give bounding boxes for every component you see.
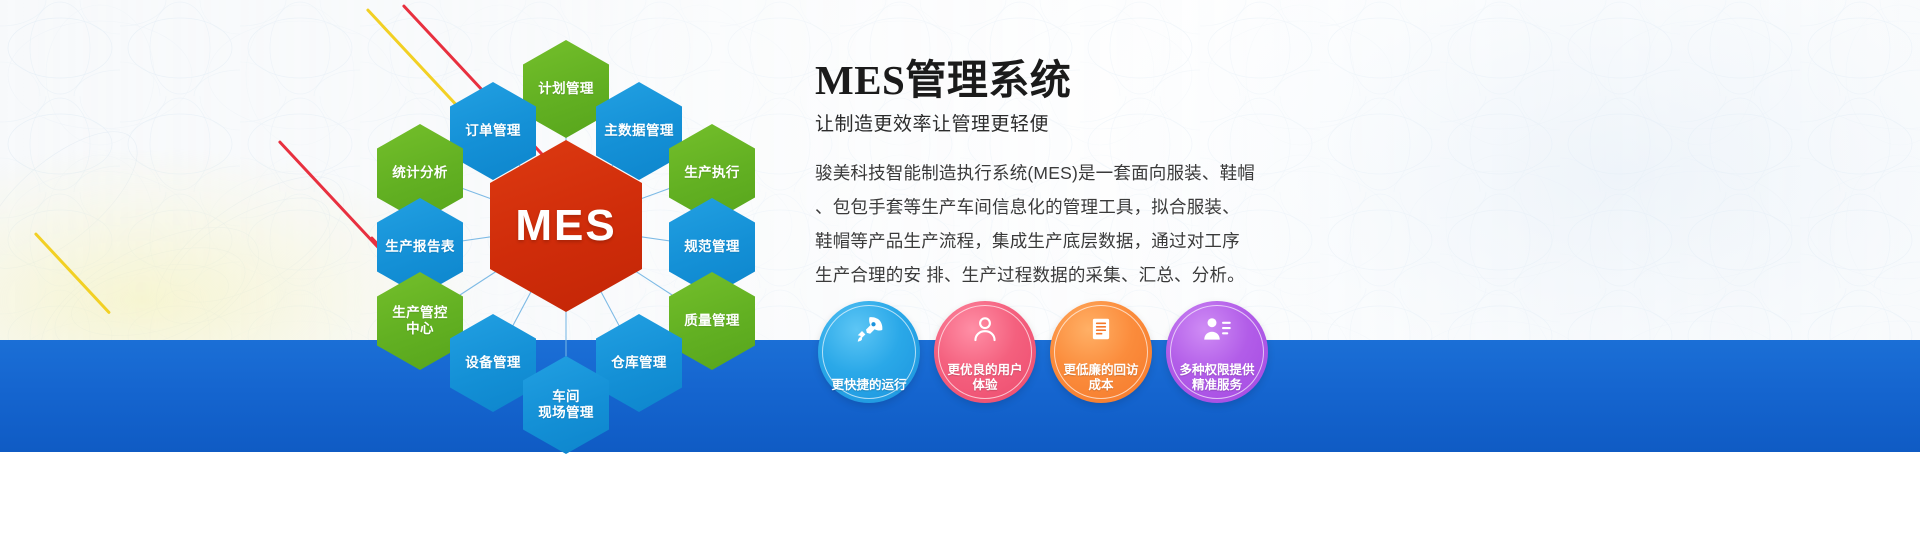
feature-badge-label: 更快捷的运行 (824, 378, 914, 394)
hex-center-label: MES (515, 201, 616, 252)
feature-badge[interactable]: 更低廉的回访成本 (1050, 301, 1152, 403)
feature-badge-label: 更低廉的回访成本 (1056, 363, 1146, 394)
mes-hexagon-diagram: 计划管理订单管理主数据管理统计分析生产执行生产报告表规范管理生产管控中心质量管理… (330, 20, 800, 440)
rocket-icon (818, 314, 920, 344)
hex-node-label: 统计分析 (392, 165, 448, 181)
feature-badge-label: 多种权限提供精准服务 (1172, 363, 1262, 394)
paragraph-line-1: 骏美科技智能制造执行系统(MES)是一套面向服装、鞋帽 (815, 156, 1270, 190)
feature-badge[interactable]: 多种权限提供精准服务 (1166, 301, 1268, 403)
hex-node-label: 生产报告表 (385, 239, 455, 255)
paragraph-line-3: 鞋帽等产品生产流程，集成生产底层数据，通过对工序 (815, 224, 1270, 258)
hex-node-label: 车间现场管理 (538, 389, 594, 420)
banner-text-block: MES管理系统 让制造更效率让管理更轻便 骏美科技智能制造执行系统(MES)是一… (815, 58, 1435, 293)
hex-node-label: 主数据管理 (604, 123, 674, 139)
banner-root: 计划管理订单管理主数据管理统计分析生产执行生产报告表规范管理生产管控中心质量管理… (0, 0, 1920, 550)
hex-node-label: 规范管理 (684, 239, 740, 255)
hex-node-label: 计划管理 (538, 81, 594, 97)
hex-node-label: 生产管控中心 (392, 305, 448, 336)
hex-node-label: 质量管理 (684, 313, 740, 329)
hex-node-label: 设备管理 (465, 355, 521, 371)
bottom-white-strip (0, 452, 1920, 550)
page-subtitle: 让制造更效率让管理更轻便 (815, 109, 1435, 136)
description-paragraph: 骏美科技智能制造执行系统(MES)是一套面向服装、鞋帽 、包包手套等生产车间信息… (815, 156, 1270, 293)
user-list-icon (1166, 314, 1268, 344)
feature-badge[interactable]: 更快捷的运行 (818, 301, 920, 403)
page-title: MES管理系统 (815, 58, 1435, 103)
paragraph-line-2: 、包包手套等生产车间信息化的管理工具，拟合服装、 (815, 190, 1270, 224)
feature-badge[interactable]: 更优良的用户体验 (934, 301, 1036, 403)
document-icon (1050, 314, 1152, 344)
hex-node-label: 生产执行 (684, 165, 740, 181)
user-icon (934, 314, 1036, 344)
paragraph-line-4: 生产合理的安 排、生产过程数据的采集、汇总、分析。 (815, 258, 1270, 292)
feature-badge-label: 更优良的用户体验 (940, 363, 1030, 394)
feature-badge-group: 更快捷的运行更优良的用户体验更低廉的回访成本多种权限提供精准服务 (818, 301, 1268, 403)
hex-node-label: 仓库管理 (611, 355, 667, 371)
hex-node-label: 订单管理 (465, 123, 521, 139)
